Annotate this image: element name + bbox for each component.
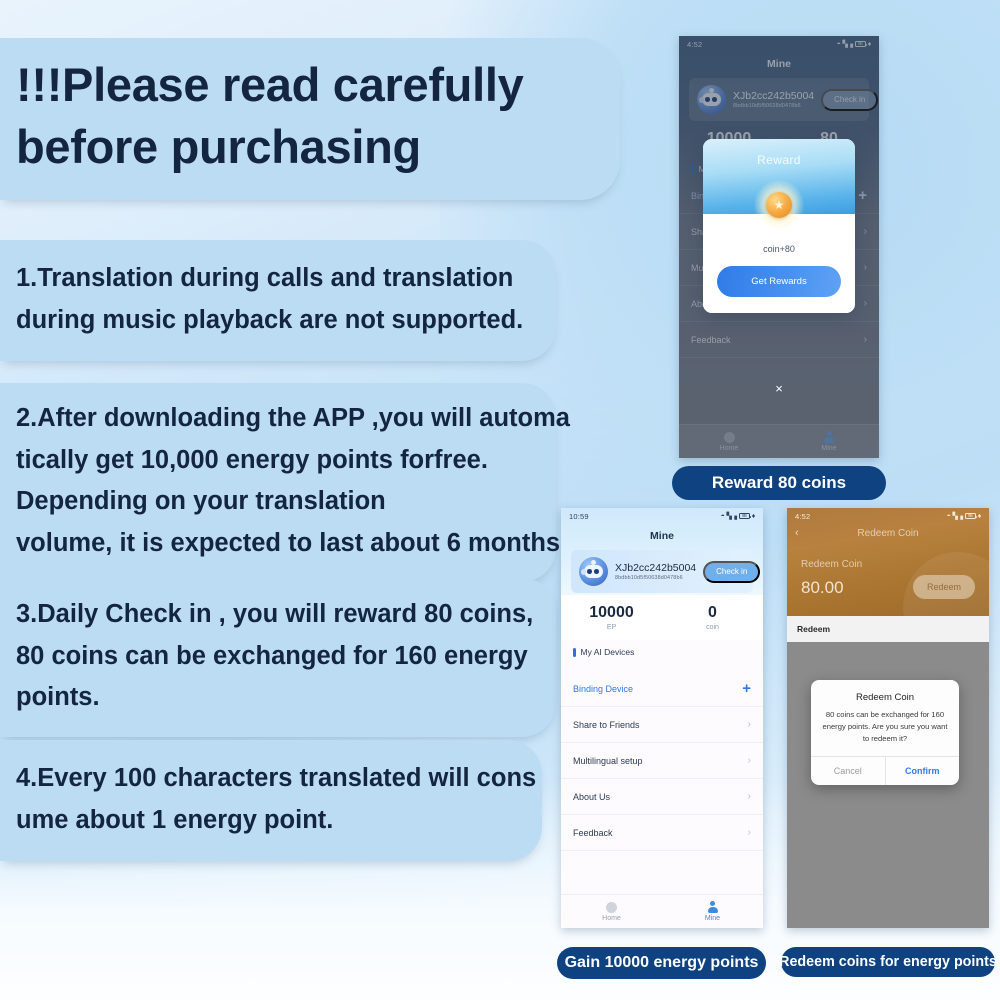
battery-icon: 88 [739,513,750,519]
coin-glow: ★ [754,180,804,230]
point-2-line-3: Depending on your translation [16,481,538,523]
row-label: Share to Friends [573,720,640,730]
battery-icon: 95 [965,513,976,519]
tab-label: Mine [705,915,720,922]
point-1-line-2: during music playback are not supported. [16,300,538,342]
redeem-button[interactable]: Redeem [913,575,975,599]
redeem-confirm-dialog: Redeem Coin 80 coins can be exchanged fo… [811,680,959,785]
caption-reward: Reward 80 coins [672,466,886,500]
plus-icon[interactable]: + [742,684,751,694]
stat-value: 0 [662,604,763,622]
row-label: About Us [573,792,610,802]
stat-value: 10000 [561,604,662,622]
phone-screenshot-reward: 4:52 ◓ ▚▗ 86 ♦ Mine XJb2cc242b5004 8bdbb… [679,36,879,458]
close-icon[interactable]: × [775,382,783,395]
section-title-redeem: Redeem [787,616,989,642]
row-share-to-friends[interactable]: Share to Friends › [561,707,763,743]
status-time: 10:59 [569,512,589,521]
point-bubble-4: 4.Every 100 characters translated will c… [0,740,542,861]
wifi-icon: ◓ [947,513,951,520]
section-header-my-ai-devices: My AI Devices [561,640,763,662]
bottom-tab-bar: Home Mine [561,894,763,928]
page-title: Mine [561,524,763,550]
stat-label: EP [561,624,662,631]
status-bar: 4:52 ◓ ▚▗ 95 ♦ [787,508,989,524]
reward-modal-header: Reward ★ [703,139,855,214]
redeem-amount: 80.00 [801,578,975,598]
status-bar: 10:59 ◓ ▚▗ 88 ♦ [561,508,763,524]
charging-icon: ♦ [752,513,755,520]
point-bubble-2: 2.After downloading the APP ,you will au… [0,383,556,582]
point-3-line-3: points. [16,677,538,719]
dialog-actions: Cancel Confirm [811,756,959,785]
signal-icon: ▚▗ [953,512,963,520]
reward-amount: coin+80 [717,244,841,254]
reward-modal: Reward ★ coin+80 Get Rewards [703,139,855,313]
chevron-right-icon: › [748,827,751,838]
caption-redeem: Redeem coins for energy points [781,947,995,977]
confirm-button[interactable]: Confirm [886,757,960,785]
stat-coins: 0 coin [662,604,763,631]
row-feedback[interactable]: Feedback › [561,815,763,851]
tab-home[interactable]: Home [561,895,662,928]
point-bubble-3: 3.Daily Check in , you will reward 80 co… [0,578,556,737]
phone-screenshot-mine: 10:59 ◓ ▚▗ 88 ♦ Mine XJb2cc242b5004 8bdb… [561,508,763,928]
person-icon [707,901,719,913]
dialog-title: Redeem Coin [811,680,959,709]
section-title: My AI Devices [581,647,635,657]
headline-line-1: !!!Please read carefully [16,54,600,116]
section-accent-bar [573,648,576,657]
headline-bubble: !!!Please read carefully before purchasi… [0,38,620,200]
row-about-us[interactable]: About Us › [561,779,763,815]
status-time: 4:52 [795,512,810,521]
stat-energy-points: 10000 EP [561,604,662,631]
redeem-balance-card: Redeem Coin 80.00 Redeem [787,547,989,616]
user-card[interactable]: XJb2cc242b5004 8bdbb10d5f50638d0478b6 Ch… [571,550,753,593]
row-multilingual-setup[interactable]: Multilingual setup › [561,743,763,779]
phone2-header: 10:59 ◓ ▚▗ 88 ♦ Mine XJb2cc242b5004 8bdb… [561,508,763,595]
point-3-line-2: 80 coins can be exchanged for 160 energy [16,636,538,678]
signal-icon: ▚▗ [727,512,737,520]
cancel-button[interactable]: Cancel [811,757,886,785]
reward-title: Reward [703,139,855,167]
caption-gain: Gain 10000 energy points [557,947,766,979]
home-icon [606,902,617,913]
chevron-right-icon: › [748,791,751,802]
check-in-button[interactable]: Check in [703,561,760,583]
point-4-line-2: ume about 1 energy point. [16,800,524,842]
point-2-line-4: volume, it is expected to last about 6 m… [16,523,538,565]
get-rewards-button[interactable]: Get Rewards [717,266,841,297]
row-label: Multilingual setup [573,756,643,766]
chevron-right-icon: › [748,719,751,730]
tab-label: Home [602,915,621,922]
dialog-message: 80 coins can be exchanged for 160 energy… [811,709,959,756]
phone-screenshot-redeem: 4:52 ◓ ▚▗ 95 ♦ ‹ Redeem Coin Redeem Coin… [787,508,989,928]
stat-label: coin [662,624,763,631]
point-3-line-1: 3.Daily Check in , you will reward 80 co… [16,594,538,636]
point-2-line-1: 2.After downloading the APP ,you will au… [16,398,538,440]
row-label: Feedback [573,828,613,838]
user-name: XJb2cc242b5004 [615,562,696,574]
point-bubble-1: 1.Translation during calls and translati… [0,240,556,361]
status-icons: ◓ ▚▗ 95 ♦ [947,512,981,520]
redeem-card-label: Redeem Coin [801,559,975,570]
headline-line-2: before purchasing [16,116,600,178]
row-label: Binding Device [573,684,633,694]
avatar [579,557,608,586]
phone2-body: My AI Devices Binding Device + Share to … [561,640,763,851]
page-title: Redeem Coin [795,528,981,539]
nav-bar: ‹ Redeem Coin [787,524,989,547]
stats-row: 10000 EP 0 coin [561,595,763,640]
chevron-right-icon: › [748,755,751,766]
wifi-icon: ◓ [721,513,725,520]
coin-icon: ★ [766,192,792,218]
charging-icon: ♦ [978,513,981,520]
point-4-line-1: 4.Every 100 characters translated will c… [16,758,524,800]
point-1-line-1: 1.Translation during calls and translati… [16,258,538,300]
status-icons: ◓ ▚▗ 88 ♦ [721,512,755,520]
redeem-header: 4:52 ◓ ▚▗ 95 ♦ ‹ Redeem Coin Redeem Coin… [787,508,989,616]
tab-mine[interactable]: Mine [662,895,763,928]
row-binding-device[interactable]: Binding Device + [561,662,763,707]
point-2-line-2: tically get 10,000 energy points forfree… [16,440,538,482]
user-id: 8bdbb10d5f50638d0478b6 [615,575,696,581]
